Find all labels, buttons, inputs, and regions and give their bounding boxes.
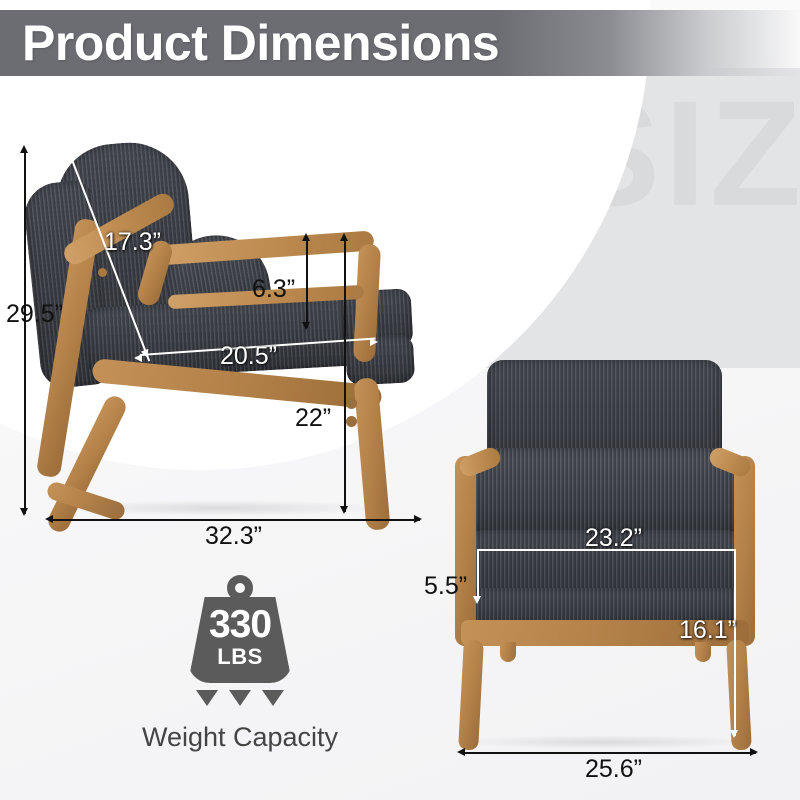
down-triangle-icon (262, 690, 284, 706)
weight-capacity-unit: LBS (180, 646, 300, 668)
inner-foot-right (695, 642, 711, 662)
front-view-floor-shadow (455, 735, 755, 749)
dimension-label-overall-width: 25.6” (585, 755, 642, 784)
dimension-label-seat-height: 16.1” (679, 616, 736, 645)
down-triangle-icon (229, 690, 251, 706)
weight-arrows-group (180, 690, 300, 710)
weight-icon: 330 LBS (180, 575, 300, 687)
frame-dowel (346, 398, 357, 409)
frame-dowel (346, 416, 357, 427)
dimension-label-arm-height: 22” (295, 404, 331, 433)
dimension-label-overall-height: 29.5” (6, 300, 63, 329)
dimension-label-arm-to-seat: 6.3” (252, 275, 295, 304)
weight-capacity-number: 330 (180, 605, 300, 644)
front-left-leg (458, 640, 484, 751)
side-view-floor-shadow (55, 500, 385, 516)
dimension-label-seat-depth: 20.5” (220, 342, 277, 371)
product-dimensions-infographic: SIZE Product Dimensions (0, 0, 800, 800)
frame-dowel (98, 268, 107, 277)
weight-capacity-caption: Weight Capacity (105, 722, 375, 753)
down-triangle-icon (196, 690, 218, 706)
weight-capacity-block: 330 LBS Weight Capacity (105, 575, 375, 753)
left-arm-post (455, 456, 476, 646)
dimension-label-backrest-height: 17.3” (104, 228, 161, 257)
dimension-label-cushion-thickness: 5.5” (424, 572, 467, 601)
dimension-label-overall-depth: 32.3” (205, 522, 262, 551)
dimension-label-seat-width: 23.2” (585, 524, 642, 553)
chair-side-view (40, 140, 440, 535)
right-arm-post (734, 456, 755, 646)
inner-foot-left (500, 642, 516, 662)
page-title: Product Dimensions (22, 14, 499, 72)
